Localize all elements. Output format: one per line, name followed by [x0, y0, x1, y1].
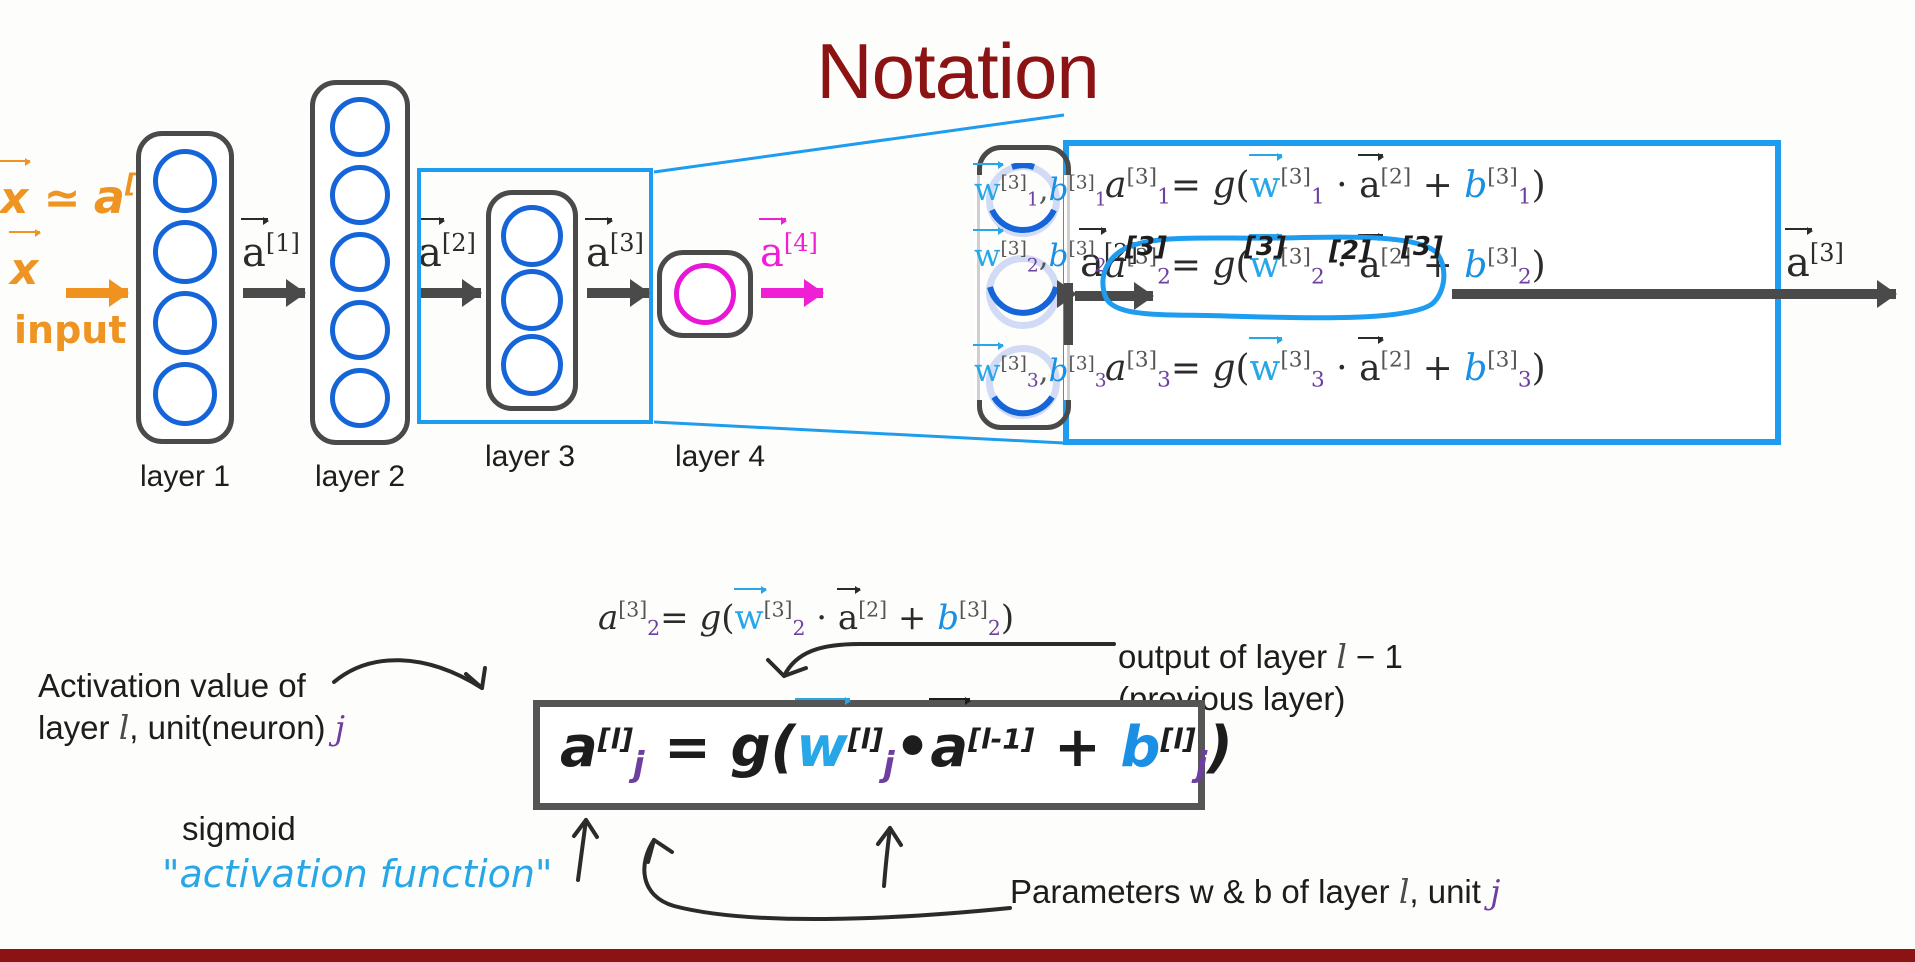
a-vector-glyph: a: [930, 715, 968, 780]
outgoing-a3-arrow: [1452, 289, 1896, 299]
w-vector-glyph: w: [1250, 165, 1281, 206]
a-vector-glyph: a: [1786, 240, 1810, 286]
neuron[interactable]: [501, 269, 563, 331]
neuron[interactable]: [330, 232, 390, 292]
input-x-label: x: [10, 244, 38, 295]
handwritten-sup-3-a: [3]: [1125, 232, 1167, 262]
layer-l-symbol: l: [1336, 637, 1347, 676]
zoom-outgoing-a3-label: a[3]: [1786, 240, 1844, 286]
layer-l-symbol: l: [1399, 872, 1410, 911]
callout-activation-value: Activation value of layer l, unit(neuron…: [38, 665, 345, 749]
layer-1-label: layer 1: [110, 460, 260, 494]
callout-sigmoid-handwritten: "activation function": [162, 852, 552, 896]
zoom-unit-2-parameters: w[3]2,b[3]2: [974, 238, 1107, 274]
w-vector-glyph: w: [974, 172, 1001, 208]
pointer-activation-value: [330, 640, 540, 725]
w-vector-glyph: w: [796, 715, 848, 780]
neuron[interactable]: [153, 291, 217, 355]
a-vector-glyph: a: [1359, 165, 1380, 206]
pointer-parameters-b: [862, 820, 922, 890]
input-arrow: [66, 288, 128, 298]
neuron[interactable]: [153, 362, 217, 426]
zoom-unit-3-equation: a[3]3= g(w[3]3 · a[2] + b[3]3): [1105, 348, 1546, 389]
neuron[interactable]: [501, 334, 563, 396]
activation-a1-label: a[1]: [242, 230, 300, 276]
neuron[interactable]: [153, 149, 217, 213]
a-vector-glyph: a: [586, 230, 610, 276]
pointer-output-prev-layer: [710, 630, 1130, 705]
a-vector-glyph: a: [242, 230, 266, 276]
layer-1-box[interactable]: [136, 131, 234, 444]
w-vector-glyph: w: [1250, 348, 1281, 389]
neuron[interactable]: [501, 205, 563, 267]
zoom-unit-3-parameters: w[3]3,b[3]3: [974, 353, 1107, 389]
page-title: Notation: [0, 28, 1915, 114]
layer-2-box[interactable]: [310, 80, 410, 445]
layer-3-label: layer 3: [455, 440, 605, 474]
callout-activation-value-line2: layer l, unit(neuron) j: [38, 707, 345, 749]
neuron[interactable]: [330, 165, 390, 225]
neuron[interactable]: [153, 220, 217, 284]
a-vector-glyph: a: [1359, 348, 1380, 389]
pointer-parameters: [630, 820, 1030, 930]
neuron[interactable]: [330, 97, 390, 157]
w-vector-glyph: w: [974, 353, 1001, 389]
pointer-sigmoid: [560, 810, 630, 885]
handwritten-sup-2-a: [2]: [1329, 236, 1371, 266]
activation-a3-label: a[3]: [586, 230, 644, 276]
neuron[interactable]: [330, 300, 390, 360]
bottom-accent-bar: [0, 949, 1915, 962]
zoom-unit-1-parameters: w[3]1,b[3]1: [974, 172, 1107, 208]
layer-3-box[interactable]: [486, 190, 578, 411]
callout-sigmoid-label: sigmoid: [182, 810, 296, 848]
callout-parameters: Parameters w & b of layer l, unit j: [1010, 872, 1500, 911]
callout-output-prev-layer-line1: output of layer l − 1: [1118, 636, 1403, 678]
x-vector-glyph: x: [0, 173, 28, 224]
x-vector-glyph-2: x: [10, 244, 38, 295]
layer-l-symbol: l: [119, 708, 130, 747]
general-formula: a[l]j = g(w[l]j•a[l-1] + b[l]j): [560, 715, 1233, 780]
unit-j-symbol: j: [1490, 872, 1500, 911]
callout-activation-value-line1: Activation value of: [38, 665, 345, 707]
handwritten-sup-3-w: [3]: [1244, 232, 1286, 262]
layer-2-label: layer 2: [285, 460, 435, 494]
input-text-label: input: [14, 308, 127, 352]
zoom-unit-1-equation: a[3]1= g(w[3]1 · a[2] + b[3]1): [1105, 165, 1546, 206]
neuron[interactable]: [330, 368, 390, 428]
handwritten-sup-3-b: [3]: [1401, 232, 1443, 262]
w-vector-glyph: w: [974, 238, 1001, 274]
activation-a1-arrow: [243, 288, 305, 298]
